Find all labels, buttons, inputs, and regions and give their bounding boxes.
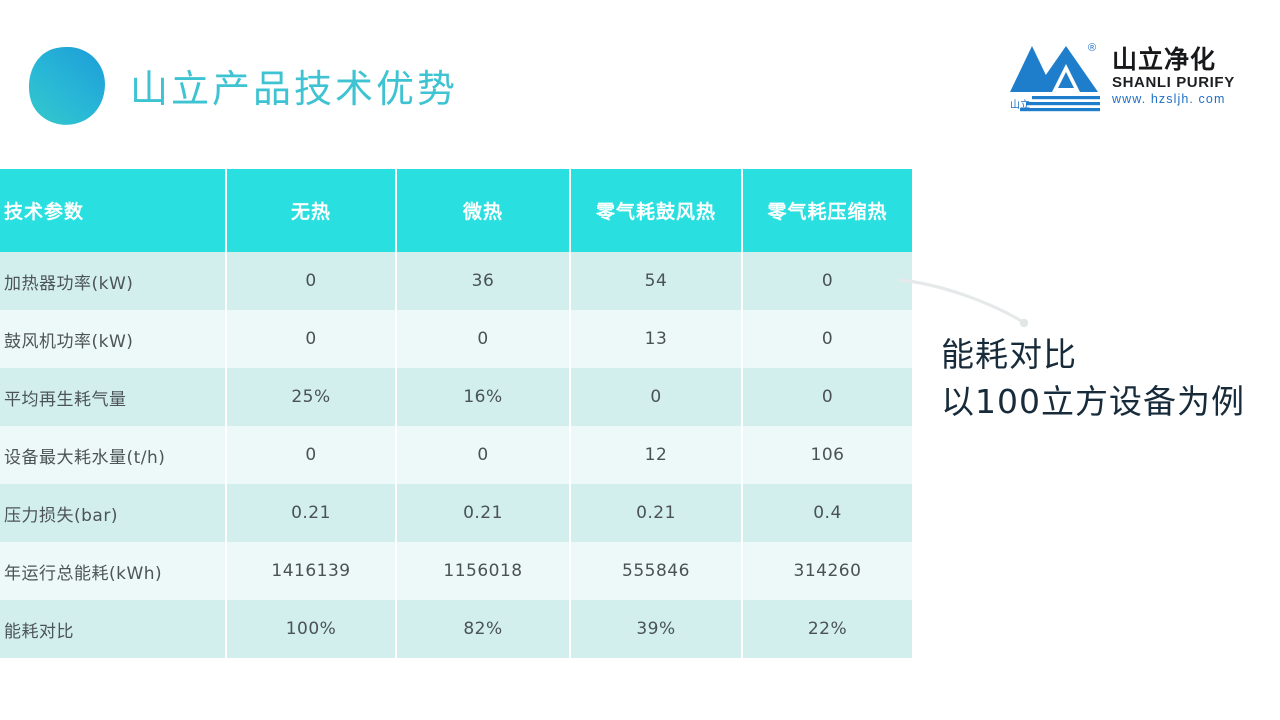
table-row: 平均再生耗气量 25% 16% 0 0 xyxy=(0,368,912,426)
cell-value: 36 xyxy=(396,252,570,310)
cell-value: 106 xyxy=(742,426,912,484)
brand-website: www. hzsljh. com xyxy=(1112,91,1244,107)
row-label: 鼓风机功率(kW) xyxy=(0,310,226,368)
cell-value: 13 xyxy=(570,310,742,368)
column-header-guufeng: 零气耗鼓风热 xyxy=(570,169,742,252)
row-label: 年运行总能耗(kWh) xyxy=(0,542,226,600)
table-row: 加热器功率(kW) 0 36 54 0 xyxy=(0,252,912,310)
cell-value: 82% xyxy=(396,600,570,658)
cell-value: 0 xyxy=(396,426,570,484)
brand-name-en: SHANLI PURIFY xyxy=(1112,74,1244,91)
cell-value: 0 xyxy=(742,252,912,310)
table-row: 设备最大耗水量(t/h) 0 0 12 106 xyxy=(0,426,912,484)
column-header-wure: 无热 xyxy=(226,169,396,252)
cell-value: 0 xyxy=(226,252,396,310)
cell-value: 0.21 xyxy=(226,484,396,542)
cell-value: 12 xyxy=(570,426,742,484)
callout-note: 能耗对比 以100立方设备为例 xyxy=(941,331,1245,425)
cell-value: 25% xyxy=(226,368,396,426)
row-label: 能耗对比 xyxy=(0,600,226,658)
cell-value: 22% xyxy=(742,600,912,658)
cell-value: 0 xyxy=(226,426,396,484)
row-label: 平均再生耗气量 xyxy=(0,368,226,426)
cell-value: 0.21 xyxy=(396,484,570,542)
cell-value: 314260 xyxy=(742,542,912,600)
callout-line-1: 能耗对比 xyxy=(941,331,1245,378)
cell-value: 100% xyxy=(226,600,396,658)
cell-value: 0.21 xyxy=(570,484,742,542)
curved-arrow-icon xyxy=(890,262,1050,342)
cell-value: 1416139 xyxy=(226,542,396,600)
callout-line-2: 以100立方设备为例 xyxy=(941,378,1245,425)
row-label: 设备最大耗水量(t/h) xyxy=(0,426,226,484)
blob-decoration-icon xyxy=(28,46,106,126)
column-header-weire: 微热 xyxy=(396,169,570,252)
column-header-parameter: 技术参数 xyxy=(0,169,226,252)
cell-value: 0.4 xyxy=(742,484,912,542)
brand-text-block: 山立净化 SHANLI PURIFY www. hzsljh. com xyxy=(1112,46,1244,107)
brand-logo: ® 山立 山立净化 SHANLI PURIFY www. hzsljh. com xyxy=(1010,38,1242,120)
slide-canvas: 山立产品技术优势 ® 山立 山立净化 SHANLI PURIFY www. hz… xyxy=(0,0,1280,720)
cell-value: 16% xyxy=(396,368,570,426)
tech-parameter-table: 技术参数 无热 微热 零气耗鼓风热 零气耗压缩热 加热器功率(kW) 0 36 … xyxy=(0,169,912,658)
cell-value: 0 xyxy=(742,368,912,426)
table-header-row: 技术参数 无热 微热 零气耗鼓风热 零气耗压缩热 xyxy=(0,169,912,252)
page-title: 山立产品技术优势 xyxy=(130,58,458,113)
table-row: 年运行总能耗(kWh) 1416139 1156018 555846 31426… xyxy=(0,542,912,600)
cell-value: 54 xyxy=(570,252,742,310)
brand-name-cn: 山立净化 xyxy=(1112,46,1244,74)
cell-value: 0 xyxy=(396,310,570,368)
cell-value: 1156018 xyxy=(396,542,570,600)
table-row: 压力损失(bar) 0.21 0.21 0.21 0.4 xyxy=(0,484,912,542)
table-row: 能耗对比 100% 82% 39% 22% xyxy=(0,600,912,658)
row-label: 压力损失(bar) xyxy=(0,484,226,542)
cell-value: 39% xyxy=(570,600,742,658)
table-body: 加热器功率(kW) 0 36 54 0 鼓风机功率(kW) 0 0 13 0 平… xyxy=(0,252,912,658)
logo-mark-sublabel: 山立 xyxy=(1010,96,1030,111)
cell-value: 0 xyxy=(226,310,396,368)
table-header: 技术参数 无热 微热 零气耗鼓风热 零气耗压缩热 xyxy=(0,169,912,252)
cell-value: 555846 xyxy=(570,542,742,600)
column-header-yasuo: 零气耗压缩热 xyxy=(742,169,912,252)
cell-value: 0 xyxy=(742,310,912,368)
cell-value: 0 xyxy=(570,368,742,426)
table-row: 鼓风机功率(kW) 0 0 13 0 xyxy=(0,310,912,368)
registered-trademark-icon: ® xyxy=(1088,42,1096,54)
row-label: 加热器功率(kW) xyxy=(0,252,226,310)
